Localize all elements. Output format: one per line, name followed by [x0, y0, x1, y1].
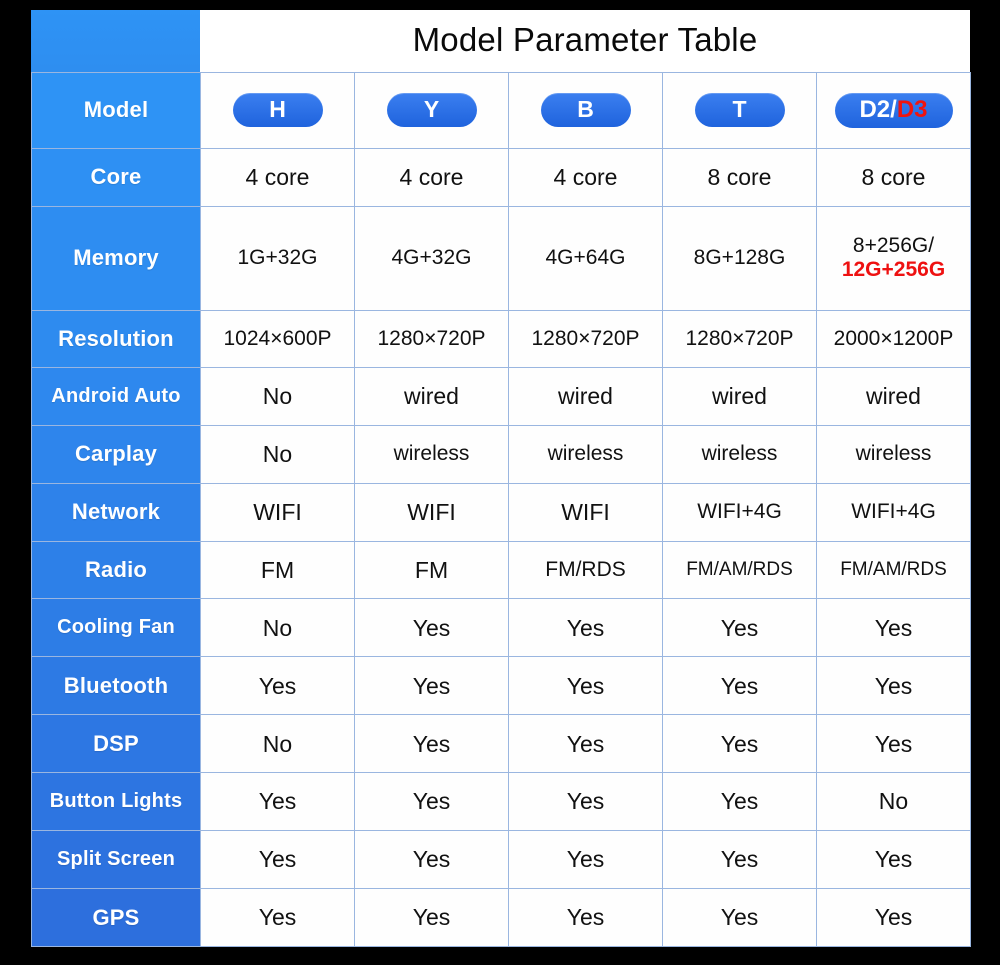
cell-value: 4 core [201, 164, 354, 190]
cell-value: WIFI [509, 499, 662, 525]
row-label-text: Carplay [32, 441, 200, 467]
cell-value: No [201, 441, 354, 467]
cell-value: WIFI+4G [817, 500, 970, 524]
model-badge[interactable]: T [695, 93, 785, 127]
table-row: BluetoothYesYesYesYesYes [32, 657, 971, 715]
table-cell: WIFI [201, 483, 355, 541]
row-label-split-screen: Split Screen [32, 831, 201, 889]
cell-value: wireless [509, 442, 662, 466]
table-cell: FM/RDS [509, 541, 663, 599]
table-cell: wired [509, 367, 663, 425]
cell-value: Yes [355, 904, 508, 930]
table-cell: Yes [817, 831, 971, 889]
cell-value: Yes [663, 731, 816, 757]
table-cell: FM/AM/RDS [663, 541, 817, 599]
row-label-carplay: Carplay [32, 425, 201, 483]
table-row: NetworkWIFIWIFIWIFIWIFI+4GWIFI+4G [32, 483, 971, 541]
table-cell: Yes [355, 773, 509, 831]
cell-value: wireless [355, 442, 508, 466]
row-label-core: Core [32, 148, 201, 206]
table-cell: Yes [201, 889, 355, 947]
row-label-bluetooth: Bluetooth [32, 657, 201, 715]
table-cell: Yes [201, 831, 355, 889]
row-label-text: Network [32, 499, 200, 525]
table-cell: 8+256G/12G+256G [817, 206, 971, 310]
cell-value: 1G+32G [201, 246, 354, 270]
table-cell: Yes [201, 657, 355, 715]
model-parameter-table: ModelHYBTD2/D3Core4 core4 core4 core8 co… [31, 72, 971, 947]
model-badge-cell[interactable]: T [663, 73, 817, 149]
table-cell: WIFI+4G [663, 483, 817, 541]
table-cell: Yes [663, 599, 817, 657]
row-label-text: Core [32, 164, 200, 190]
table-cell: Yes [509, 599, 663, 657]
row-label-cooling-fan: Cooling Fan [32, 599, 201, 657]
title-corner-spacer [31, 10, 200, 72]
table-row: DSPNoYesYesYesYes [32, 715, 971, 773]
model-badge-cell[interactable]: D2/D3 [817, 73, 971, 149]
model-badge-cell[interactable]: B [509, 73, 663, 149]
cell-value: wired [663, 383, 816, 409]
row-label-dsp: DSP [32, 715, 201, 773]
cell-value: Yes [509, 846, 662, 872]
cell-value-alt: 12G+256G [817, 258, 970, 282]
table-row: Core4 core4 core4 core8 core8 core [32, 148, 971, 206]
cell-value: wireless [663, 442, 816, 466]
row-label-text: Model [32, 97, 200, 123]
table-cell: Yes [509, 889, 663, 947]
table-row: Android AutoNowiredwiredwiredwired [32, 367, 971, 425]
cell-value: Yes [355, 731, 508, 757]
row-label-radio: Radio [32, 541, 201, 599]
cell-value: wired [355, 383, 508, 409]
cell-value: 4G+32G [355, 246, 508, 270]
table-cell: No [201, 599, 355, 657]
row-label-gps: GPS [32, 889, 201, 947]
cell-value: Yes [509, 673, 662, 699]
table-row: Cooling FanNoYesYesYesYes [32, 599, 971, 657]
cell-value: Yes [817, 673, 970, 699]
table-cell: 2000×1200P [817, 310, 971, 367]
cell-value: 4 core [355, 164, 508, 190]
table-cell: wireless [509, 425, 663, 483]
table-cell: Yes [355, 889, 509, 947]
model-badge-cell[interactable]: Y [355, 73, 509, 149]
model-badge[interactable]: H [233, 93, 323, 127]
table-cell: FM [355, 541, 509, 599]
page-title: Model Parameter Table [200, 10, 970, 72]
table-cell: 1280×720P [663, 310, 817, 367]
row-label-text: Bluetooth [32, 673, 200, 699]
cell-value: Yes [509, 904, 662, 930]
row-label-text: Button Lights [32, 790, 200, 813]
cell-value: Yes [201, 846, 354, 872]
table-cell: wireless [355, 425, 509, 483]
cell-value: WIFI [355, 499, 508, 525]
table-row: Split ScreenYesYesYesYesYes [32, 831, 971, 889]
table-cell: 4 core [355, 148, 509, 206]
model-badge-label: B [577, 96, 594, 122]
table-cell: Yes [355, 831, 509, 889]
cell-value: Yes [663, 673, 816, 699]
cell-value: 4 core [509, 164, 662, 190]
model-badge[interactable]: Y [387, 93, 477, 127]
table-cell: WIFI+4G [817, 483, 971, 541]
cell-value: No [817, 788, 970, 814]
table-cell: No [817, 773, 971, 831]
cell-value: Yes [817, 846, 970, 872]
cell-value: Yes [355, 788, 508, 814]
table-cell: WIFI [355, 483, 509, 541]
table-cell: Yes [663, 657, 817, 715]
model-badge-alt-label: D3 [897, 96, 928, 123]
row-label-text: Cooling Fan [32, 616, 200, 639]
cell-value: 1280×720P [663, 327, 816, 351]
table-cell: WIFI [509, 483, 663, 541]
table-row: RadioFMFMFM/RDSFM/AM/RDSFM/AM/RDS [32, 541, 971, 599]
row-label-text: Resolution [32, 326, 200, 352]
table-body: ModelHYBTD2/D3Core4 core4 core4 core8 co… [32, 73, 971, 947]
cell-value: Yes [355, 615, 508, 641]
table-row: ModelHYBTD2/D3 [32, 73, 971, 149]
model-badge-label: Y [424, 96, 439, 122]
cell-value: 8+256G/ [817, 234, 970, 258]
cell-value: Yes [817, 731, 970, 757]
cell-value: 2000×1200P [817, 327, 970, 351]
model-badge-label: T [732, 96, 746, 122]
row-label-button-lights: Button Lights [32, 773, 201, 831]
table-cell: No [201, 367, 355, 425]
cell-value: Yes [355, 846, 508, 872]
row-label-resolution: Resolution [32, 310, 201, 367]
cell-value: No [201, 731, 354, 757]
cell-value: FM/AM/RDS [817, 559, 970, 581]
cell-value: FM/RDS [509, 558, 662, 582]
table-row: Button LightsYesYesYesYesNo [32, 773, 971, 831]
cell-value: 8G+128G [663, 246, 816, 270]
table-cell: Yes [663, 715, 817, 773]
row-label-memory: Memory [32, 206, 201, 310]
table-cell: wired [817, 367, 971, 425]
table-cell: No [201, 425, 355, 483]
cell-value: Yes [817, 615, 970, 641]
table-cell: Yes [509, 657, 663, 715]
table-cell: 1024×600P [201, 310, 355, 367]
cell-value: 8 core [817, 164, 970, 190]
table-cell: Yes [817, 889, 971, 947]
table-cell: Yes [355, 599, 509, 657]
table-cell: Yes [355, 715, 509, 773]
cell-value: WIFI [201, 499, 354, 525]
model-badge-cell[interactable]: H [201, 73, 355, 149]
table-cell: Yes [355, 657, 509, 715]
model-badge-label: H [269, 96, 286, 122]
cell-value: No [201, 615, 354, 641]
table-cell: Yes [817, 715, 971, 773]
model-badge-label: D2/ [859, 96, 896, 123]
cell-value: Yes [355, 673, 508, 699]
cell-value: Yes [201, 904, 354, 930]
cell-value: wired [817, 383, 970, 409]
table-cell: Yes [663, 773, 817, 831]
table-cell: 8G+128G [663, 206, 817, 310]
table-cell: 1280×720P [509, 310, 663, 367]
table-cell: 1280×720P [355, 310, 509, 367]
table-cell: Yes [509, 715, 663, 773]
table-cell: Yes [509, 831, 663, 889]
cell-value: Yes [201, 673, 354, 699]
row-label-text: Radio [32, 557, 200, 583]
table-cell: Yes [817, 657, 971, 715]
row-label-network: Network [32, 483, 201, 541]
cell-value: Yes [663, 846, 816, 872]
table-cell: wireless [663, 425, 817, 483]
table-cell: 4G+64G [509, 206, 663, 310]
table-cell: Yes [201, 773, 355, 831]
cell-value: FM [355, 557, 508, 583]
model-badge[interactable]: D2/D3 [835, 93, 953, 128]
cell-value: 8 core [663, 164, 816, 190]
table-row: CarplayNowirelesswirelesswirelesswireles… [32, 425, 971, 483]
cell-value: Yes [817, 904, 970, 930]
table-cell: 4 core [509, 148, 663, 206]
table-cell: 4G+32G [355, 206, 509, 310]
cell-value: 1280×720P [355, 327, 508, 351]
cell-value: 4G+64G [509, 246, 662, 270]
cell-value: Yes [201, 788, 354, 814]
table-cell: Yes [509, 773, 663, 831]
row-label-android-auto: Android Auto [32, 367, 201, 425]
table-row: GPSYesYesYesYesYes [32, 889, 971, 947]
parameter-table-card: Model Parameter Table ModelHYBTD2/D3Core… [31, 10, 970, 947]
cell-value: FM/AM/RDS [663, 559, 816, 581]
cell-value: wired [509, 383, 662, 409]
cell-value: Yes [663, 788, 816, 814]
row-label-text: GPS [32, 905, 200, 931]
cell-value: FM [201, 557, 354, 583]
row-label-text: Memory [32, 245, 200, 271]
cell-value: Yes [509, 615, 662, 641]
cell-value: wireless [817, 442, 970, 466]
table-cell: No [201, 715, 355, 773]
cell-value: Yes [509, 731, 662, 757]
table-cell: wired [663, 367, 817, 425]
table-cell: Yes [663, 831, 817, 889]
model-badge[interactable]: B [541, 93, 631, 127]
table-row: Memory1G+32G4G+32G4G+64G8G+128G8+256G/12… [32, 206, 971, 310]
row-label-text: Android Auto [32, 385, 200, 408]
table-cell: wired [355, 367, 509, 425]
table-cell: 1G+32G [201, 206, 355, 310]
table-cell: FM [201, 541, 355, 599]
cell-value: 1024×600P [201, 327, 354, 351]
table-cell: wireless [817, 425, 971, 483]
row-label-model: Model [32, 73, 201, 149]
cell-value: WIFI+4G [663, 500, 816, 524]
table-cell: 4 core [201, 148, 355, 206]
table-row: Resolution1024×600P1280×720P1280×720P128… [32, 310, 971, 367]
title-strip: Model Parameter Table [31, 10, 970, 72]
cell-value: Yes [663, 615, 816, 641]
cell-value: Yes [509, 788, 662, 814]
table-cell: Yes [817, 599, 971, 657]
page-root: Model Parameter Table ModelHYBTD2/D3Core… [0, 0, 1000, 965]
cell-value: No [201, 383, 354, 409]
table-cell: 8 core [817, 148, 971, 206]
cell-value: 1280×720P [509, 327, 662, 351]
table-cell: FM/AM/RDS [817, 541, 971, 599]
row-label-text: DSP [32, 731, 200, 757]
row-label-text: Split Screen [32, 848, 200, 871]
cell-value: Yes [663, 904, 816, 930]
table-cell: 8 core [663, 148, 817, 206]
table-cell: Yes [663, 889, 817, 947]
